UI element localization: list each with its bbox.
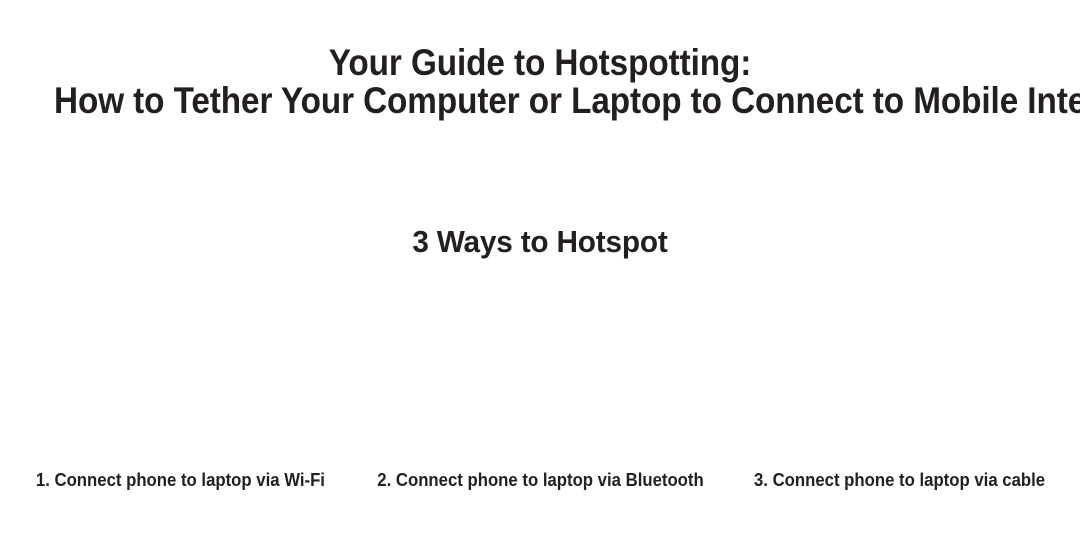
section-heading-label: 3 Ways to Hotspot bbox=[412, 224, 667, 260]
step-1-caption: 1. Connect phone to laptop via Wi-Fi bbox=[35, 469, 324, 514]
step-1-illustration bbox=[30, 289, 330, 469]
step-column-3: 3. Connect phone to laptop via cable bbox=[720, 286, 1080, 514]
step-2-caption: 2. Connect phone to laptop via Bluetooth bbox=[377, 469, 703, 514]
step-column-1: 1. Connect phone to laptop via Wi-Fi bbox=[0, 286, 360, 514]
steps-row: 1. Connect phone to laptop via Wi-Fi 2. … bbox=[0, 286, 1080, 514]
step-3-caption: 3. Connect phone to laptop via cable bbox=[754, 469, 1045, 514]
page-title-line-1: Your Guide to Hotspotting: bbox=[54, 44, 1026, 82]
step-3-illustration bbox=[750, 289, 1050, 469]
step-2-illustration bbox=[390, 289, 690, 469]
page-title: Your Guide to Hotspotting: How to Tether… bbox=[0, 44, 1080, 120]
page-title-line-2: How to Tether Your Computer or Laptop to… bbox=[54, 82, 1026, 120]
step-column-2: 2. Connect phone to laptop via Bluetooth bbox=[360, 286, 720, 514]
section-heading: 3 Ways to Hotspot bbox=[0, 224, 1080, 260]
infographic-canvas: Your Guide to Hotspotting: How to Tether… bbox=[0, 0, 1080, 552]
